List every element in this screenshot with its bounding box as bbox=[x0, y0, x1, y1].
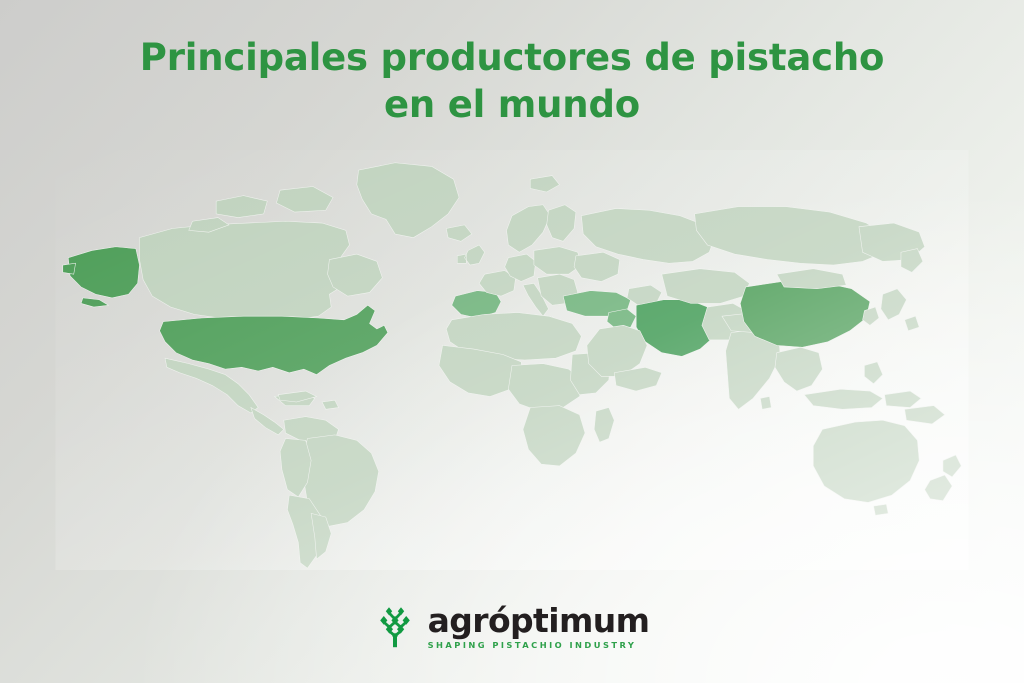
logo-text-block: agróptimum SHAPING PISTACHIO INDUSTRY bbox=[428, 604, 650, 649]
land-uk bbox=[457, 245, 484, 265]
land-sri-lanka bbox=[760, 397, 771, 410]
land-tasmania bbox=[874, 504, 889, 515]
country-china bbox=[740, 281, 870, 347]
pistachio-tree-icon bbox=[375, 604, 415, 648]
land-mongolia bbox=[777, 269, 846, 289]
land-kamchatka bbox=[901, 249, 923, 273]
land-canada bbox=[139, 221, 349, 320]
land-ukraine bbox=[574, 252, 620, 281]
land-korea-japan bbox=[863, 289, 920, 331]
land-sea-mainland bbox=[775, 347, 822, 391]
world-map bbox=[52, 150, 972, 570]
land-cent-asia bbox=[662, 269, 750, 304]
country-alaska bbox=[68, 247, 139, 298]
land-centam bbox=[251, 407, 284, 434]
land-scandinavia bbox=[507, 205, 551, 252]
land-svalbard bbox=[530, 176, 559, 192]
land-finland-baltic bbox=[547, 205, 576, 242]
land-indonesia bbox=[804, 389, 921, 409]
logo-tagline: SHAPING PISTACHIO INDUSTRY bbox=[428, 641, 637, 649]
land-png bbox=[905, 406, 945, 424]
brand-logo: agróptimum SHAPING PISTACHIO INDUSTRY bbox=[0, 604, 1024, 649]
land-iceland bbox=[446, 225, 472, 241]
world-map-svg bbox=[52, 150, 972, 570]
poster-stage: Principales productores de pistacho en e… bbox=[0, 0, 1024, 683]
page-title: Principales productores de pistacho en e… bbox=[0, 34, 1024, 129]
land-layer bbox=[63, 163, 961, 568]
land-philippines bbox=[864, 362, 882, 384]
land-poland-east bbox=[534, 247, 581, 274]
land-greenland bbox=[357, 163, 459, 238]
land-australia bbox=[813, 420, 919, 502]
land-nz-n bbox=[943, 455, 961, 477]
land-madagascar bbox=[594, 407, 614, 442]
logo-wordmark: agróptimum bbox=[428, 604, 650, 637]
land-s-africa bbox=[523, 406, 585, 466]
land-nz-s bbox=[925, 475, 952, 501]
